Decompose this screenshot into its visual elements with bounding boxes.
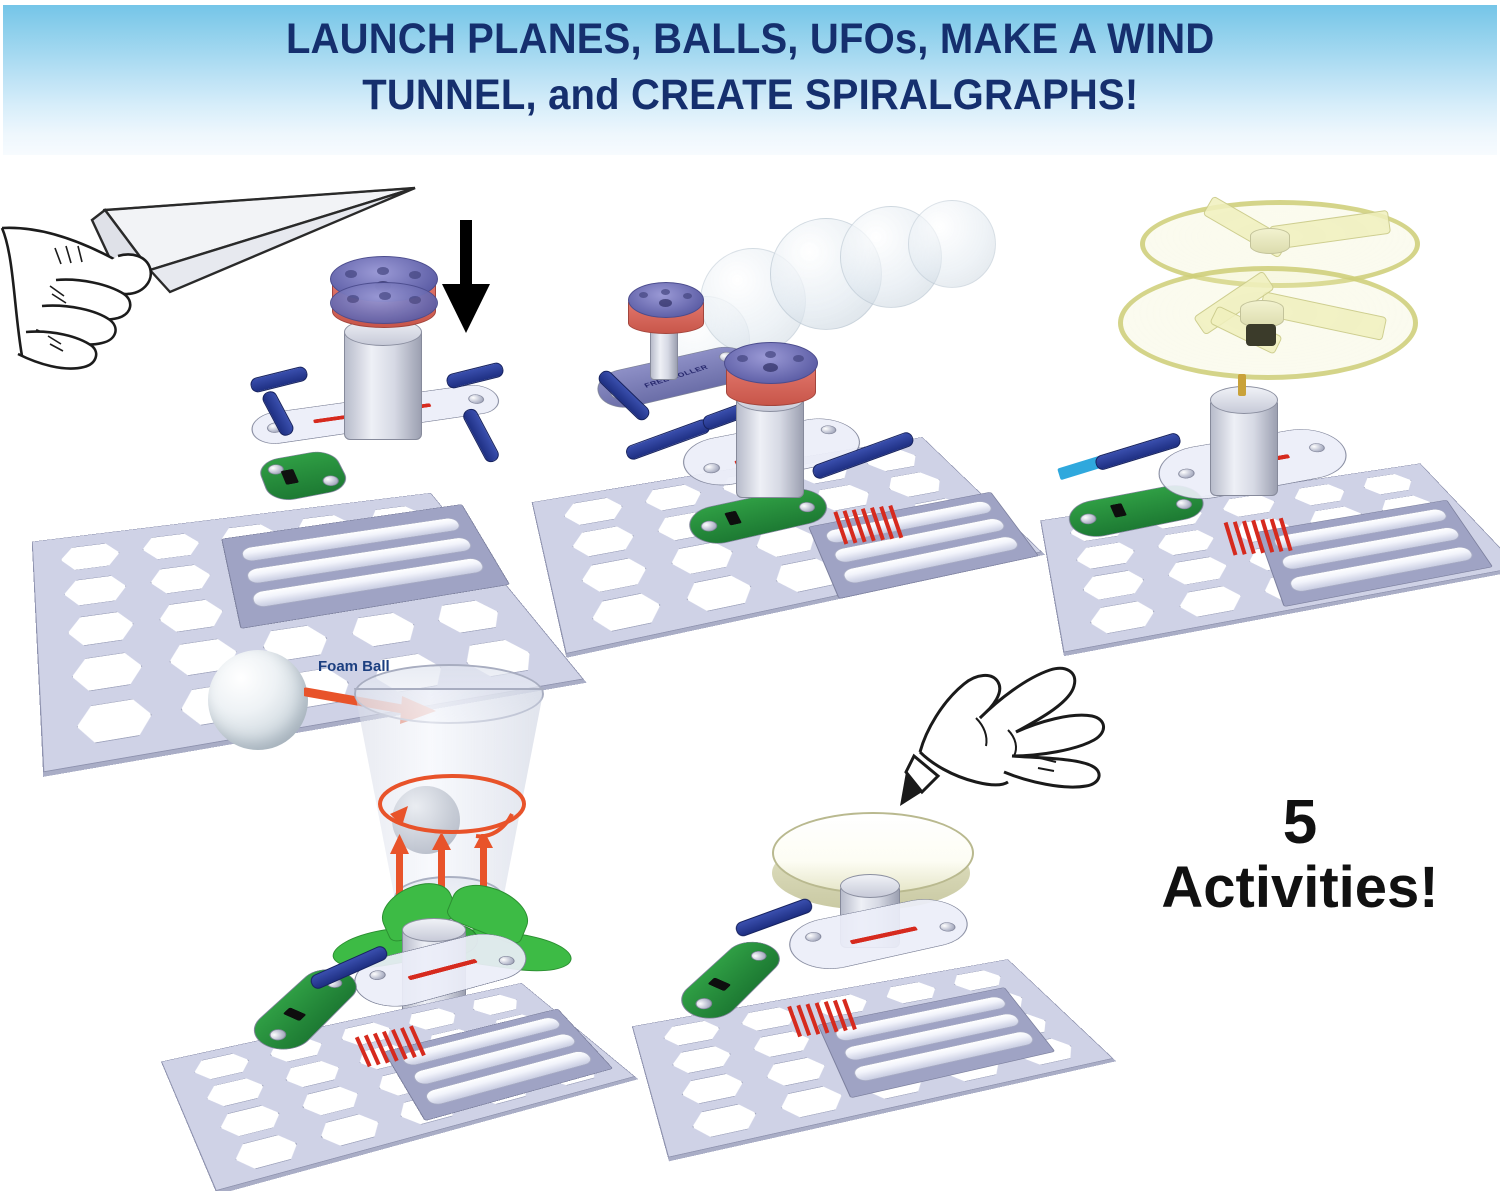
board-hole (215, 1102, 286, 1140)
snap-baseboard (161, 983, 635, 1191)
board-hole (1074, 540, 1139, 571)
snap-stud (797, 501, 818, 514)
rotor-shaft-adapter (1246, 324, 1276, 346)
snap-stud (321, 474, 341, 487)
snap-stud (803, 931, 823, 943)
snap-stud (1307, 442, 1327, 453)
board-hole (666, 539, 740, 577)
snap-stud (1174, 498, 1194, 511)
snap-stud (702, 462, 722, 475)
switch-slider[interactable] (281, 469, 299, 485)
board-hole (660, 1018, 724, 1048)
roller-rotor-disc (628, 282, 704, 318)
board-hole (60, 541, 122, 571)
snap-stud (496, 955, 517, 967)
board-hole (63, 574, 129, 608)
motor-cap (840, 874, 900, 898)
switch-slider[interactable] (283, 1007, 307, 1021)
board-hole (279, 1058, 346, 1090)
snap-stud (692, 996, 715, 1011)
board-hole (202, 1075, 270, 1109)
snap-stud (699, 519, 719, 533)
snap-stud (367, 969, 388, 982)
board-hole (578, 555, 652, 595)
page-title-line-2: TUNNEL, and CREATE SPIRALGRAPHS! (362, 67, 1138, 123)
panel-ufo-launcher (1050, 200, 1500, 630)
board-hole (156, 597, 228, 634)
activities-label: Activities! (1120, 856, 1480, 920)
switch-slider[interactable] (708, 977, 731, 991)
board-hole (561, 495, 627, 527)
panel-spiralgraph (650, 660, 1110, 1111)
panel-plane-launcher (0, 160, 540, 650)
red-lead-wire (407, 959, 478, 981)
switch-slider[interactable] (724, 511, 742, 526)
activities-callout: 5 Activities! (1120, 790, 1480, 920)
board-hole (313, 1111, 387, 1150)
snap-stud (1177, 467, 1197, 479)
snap-stud (748, 949, 769, 962)
board-hole (296, 1083, 366, 1118)
board-hole (75, 696, 156, 746)
snap-stud (818, 424, 838, 435)
board-hole (147, 563, 214, 596)
board-hole (1154, 528, 1219, 558)
board-hole (1087, 599, 1159, 637)
activities-count: 5 (1120, 790, 1480, 856)
board-hole (1289, 482, 1351, 507)
switch-slider[interactable] (1110, 503, 1127, 518)
snap-wire-blue (461, 406, 501, 464)
switch-module[interactable] (255, 448, 352, 503)
board-hole (1357, 472, 1419, 496)
board-hole (229, 1131, 304, 1173)
panel-wind-tunnel: Foam Ball (180, 630, 620, 1111)
board-hole (569, 524, 639, 560)
board-hole (1175, 584, 1247, 620)
launch-rotor-disc[interactable] (724, 342, 818, 384)
down-arrow-icon (438, 220, 494, 335)
board-hole (190, 1051, 255, 1083)
header-banner: LAUNCH PLANES, BALLS, UFOs, MAKE A WIND … (3, 5, 1497, 155)
snap-stud (266, 1027, 289, 1042)
board-hole (66, 610, 136, 648)
launch-rotor-disc-lower (330, 282, 438, 324)
board-hole (681, 572, 759, 614)
ufo-hub (1250, 228, 1290, 254)
board-hole (678, 1071, 748, 1107)
board-hole (588, 590, 666, 635)
board-hole (688, 1101, 762, 1141)
snap-stud (1078, 512, 1098, 525)
foam-ball (208, 650, 308, 750)
board-hole (669, 1043, 736, 1076)
flying-ball (908, 200, 996, 288)
board-hole (465, 992, 526, 1017)
page-title-line-1: LAUNCH PLANES, BALLS, UFOs, MAKE A WIND (286, 11, 1214, 67)
motor-shaft (1238, 374, 1246, 396)
board-hole (1164, 554, 1232, 587)
board-hole (70, 650, 145, 694)
board-hole (641, 482, 707, 513)
panel-ball-launcher: FREE ROLLER (540, 200, 1060, 640)
red-lead-wire (850, 926, 918, 944)
board-hole (1080, 568, 1148, 602)
board-hole (761, 1055, 831, 1089)
snap-stud (466, 393, 486, 404)
board-hole (775, 1083, 848, 1120)
board-hole (140, 532, 203, 561)
snap-stud (937, 921, 958, 933)
